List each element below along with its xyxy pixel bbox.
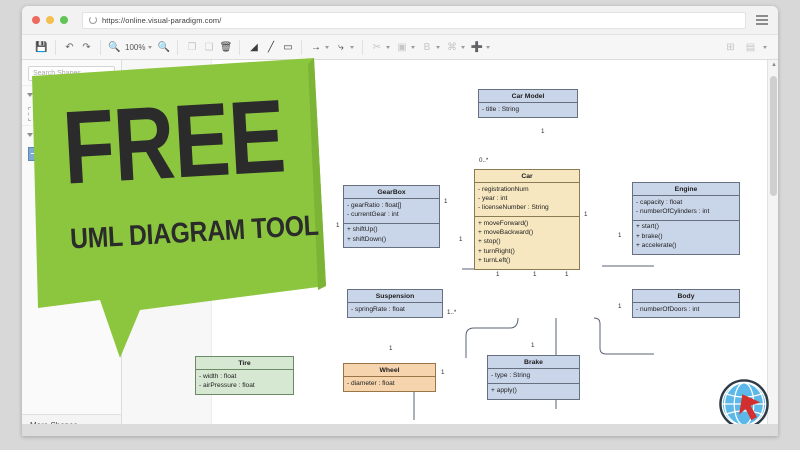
multiplicity-label: 1 [533,271,536,278]
uml-attributes: - width : float- airPressure : float [196,370,293,394]
fit-page-icon[interactable]: ⊞ [722,39,739,56]
connector-style-icon[interactable]: ⤷ [332,39,349,56]
toggle-panel-icon[interactable]: ▤ [742,39,759,56]
line-end-icon[interactable]: ▣ [393,39,410,56]
uml-operation: + moveForward() [478,220,576,229]
align-icon[interactable]: ⌘ [443,39,460,56]
multiplicity-label: 1 [541,128,544,135]
uml-class-car-model[interactable]: Car Model- title : String [478,89,578,118]
chevron-down-icon[interactable] [436,46,440,49]
scroll-up-icon[interactable]: ▲ [771,62,777,68]
uml-class-gearbox[interactable]: GearBox- gearRatio : float[]- currentGea… [343,185,440,248]
undo-button[interactable]: ↶ [61,39,78,56]
toolbar-group-arrange: ✂ ▣ B ⌘ ➕ [363,38,498,56]
zoom-level-label[interactable]: 100% [123,43,147,52]
uml-attributes: - type : String [488,369,579,383]
close-window-button[interactable] [32,16,40,24]
window-bottom-strip [22,424,778,436]
uml-attributes: - capacity : float- numberOfCylinders : … [633,196,739,220]
uml-attribute: - licenseNumber : String [478,204,576,213]
window-controls[interactable] [32,16,68,24]
uml-class-brake[interactable]: Brake- type : String+ apply() [487,355,580,400]
multiplicity-label: 1 [584,211,587,218]
uml-class-name: Car [475,170,579,183]
minimize-window-button[interactable] [46,16,54,24]
uml-attributes: - numberOfDoors : int [633,303,739,317]
text-format-icon[interactable]: B [418,39,435,56]
chevron-down-icon[interactable] [386,46,390,49]
banner-headline: FREE [60,76,288,209]
free-promo-banner: FREE UML DIAGRAM TOOL [28,58,348,358]
uml-attributes: - title : String [479,103,577,117]
multiplicity-label: 1 [531,342,534,349]
banner-text-block: FREE UML DIAGRAM TOOL [28,41,341,307]
uml-class-name: Car Model [479,90,577,103]
chevron-down-icon[interactable] [350,46,354,49]
address-bar[interactable]: https://online.visual-paradigm.com/ [82,12,746,29]
uml-operation: + start() [636,223,736,232]
multiplicity-label: 1 [459,236,462,243]
chevron-down-icon[interactable] [411,46,415,49]
redo-button[interactable]: ↷ [78,39,95,56]
uml-operation: + apply() [491,387,576,396]
banner-subline: UML DIAGRAM TOOL [69,210,319,256]
multiplicity-label: 1 [618,232,621,239]
visual-paradigm-globe-logo [718,378,770,430]
maximize-window-button[interactable] [60,16,68,24]
uml-class-wheel[interactable]: Wheel- diameter : float [343,363,436,392]
multiplicity-label: 1 [496,271,499,278]
chevron-down-icon[interactable] [148,46,152,49]
uml-attribute: - registrationNum [478,186,576,195]
save-button[interactable]: 💾 [33,39,50,56]
multiplicity-label: 1 [565,271,568,278]
scrollbar-thumb[interactable] [770,76,777,196]
uml-attribute: - year : int [478,195,576,204]
uml-attribute: - numberOfDoors : int [636,306,736,315]
add-button[interactable]: ➕ [468,39,485,56]
uml-class-name: Tire [196,357,293,370]
multiplicity-label: 1..* [447,309,456,316]
uml-attributes: - registrationNum- year : int- licenseNu… [475,183,579,216]
uml-operation: + brake() [636,233,736,242]
line-start-icon[interactable]: ✂ [368,39,385,56]
uml-attribute: - numberOfCylinders : int [636,208,736,217]
uml-attribute: - currentGear : int [347,211,436,220]
hamburger-menu-icon[interactable] [756,15,768,25]
uml-operation: + turnRight() [478,247,576,256]
uml-attribute: - airPressure : float [199,382,290,391]
uml-class-name: GearBox [344,186,439,199]
uml-attribute: - type : String [491,372,576,381]
reload-icon[interactable] [89,16,97,24]
uml-operation: + moveBackward() [478,229,576,238]
browser-titlebar: https://online.visual-paradigm.com/ [22,6,778,34]
uml-class-body[interactable]: Body- numberOfDoors : int [632,289,740,318]
uml-class-name: Suspension [348,290,442,303]
uml-attribute: - gearRatio : float[] [347,202,436,211]
multiplicity-label: 0..* [479,157,488,164]
uml-attribute: - width : float [199,373,290,382]
multiplicity-label: 1 [389,345,392,352]
multiplicity-label: 1 [618,303,621,310]
uml-attributes: - springRate : float [348,303,442,317]
uml-operations: + start()+ brake()+ accelerate() [633,220,739,254]
uml-attribute: - diameter : float [347,380,432,389]
chevron-down-icon[interactable] [461,46,465,49]
uml-class-name: Body [633,290,739,303]
uml-operation: + stop() [478,238,576,247]
uml-operation: + shiftUp() [347,226,436,235]
uml-class-name: Wheel [344,364,435,377]
toolbar-group-view: ⊞ ▤ [722,39,772,56]
uml-attribute: - springRate : float [351,306,439,315]
url-text: https://online.visual-paradigm.com/ [102,16,221,25]
screenshot-root: https://online.visual-paradigm.com/ 💾 ↶ … [0,0,800,450]
multiplicity-label: 1 [444,198,447,205]
uml-class-name: Engine [633,183,739,196]
uml-attributes: - gearRatio : float[]- currentGear : int [344,199,439,223]
uml-class-suspension[interactable]: Suspension- springRate : float [347,289,443,318]
uml-attributes: - diameter : float [344,377,435,391]
uml-operation: + shiftDown() [347,236,436,245]
toolbar-group-file: 💾 [28,38,55,56]
uml-operations: + shiftUp()+ shiftDown() [344,223,439,248]
uml-attribute: - title : String [482,106,574,115]
uml-class-car[interactable]: Car- registrationNum- year : int- licens… [474,169,580,270]
uml-operation: + accelerate() [636,242,736,251]
chevron-down-icon[interactable] [486,46,490,49]
multiplicity-label: 1 [441,369,444,376]
uml-class-engine[interactable]: Engine- capacity : float- numberOfCylind… [632,182,740,255]
uml-operation: + turnLeft() [478,257,576,266]
uml-class-name: Brake [488,356,579,369]
uml-operations: + apply() [488,383,579,398]
uml-attribute: - capacity : float [636,199,736,208]
uml-class-tire[interactable]: Tire- width : float- airPressure : float [195,356,294,395]
chevron-down-icon[interactable] [763,46,767,49]
uml-operations: + moveForward()+ moveBackward()+ stop()+… [475,216,579,268]
